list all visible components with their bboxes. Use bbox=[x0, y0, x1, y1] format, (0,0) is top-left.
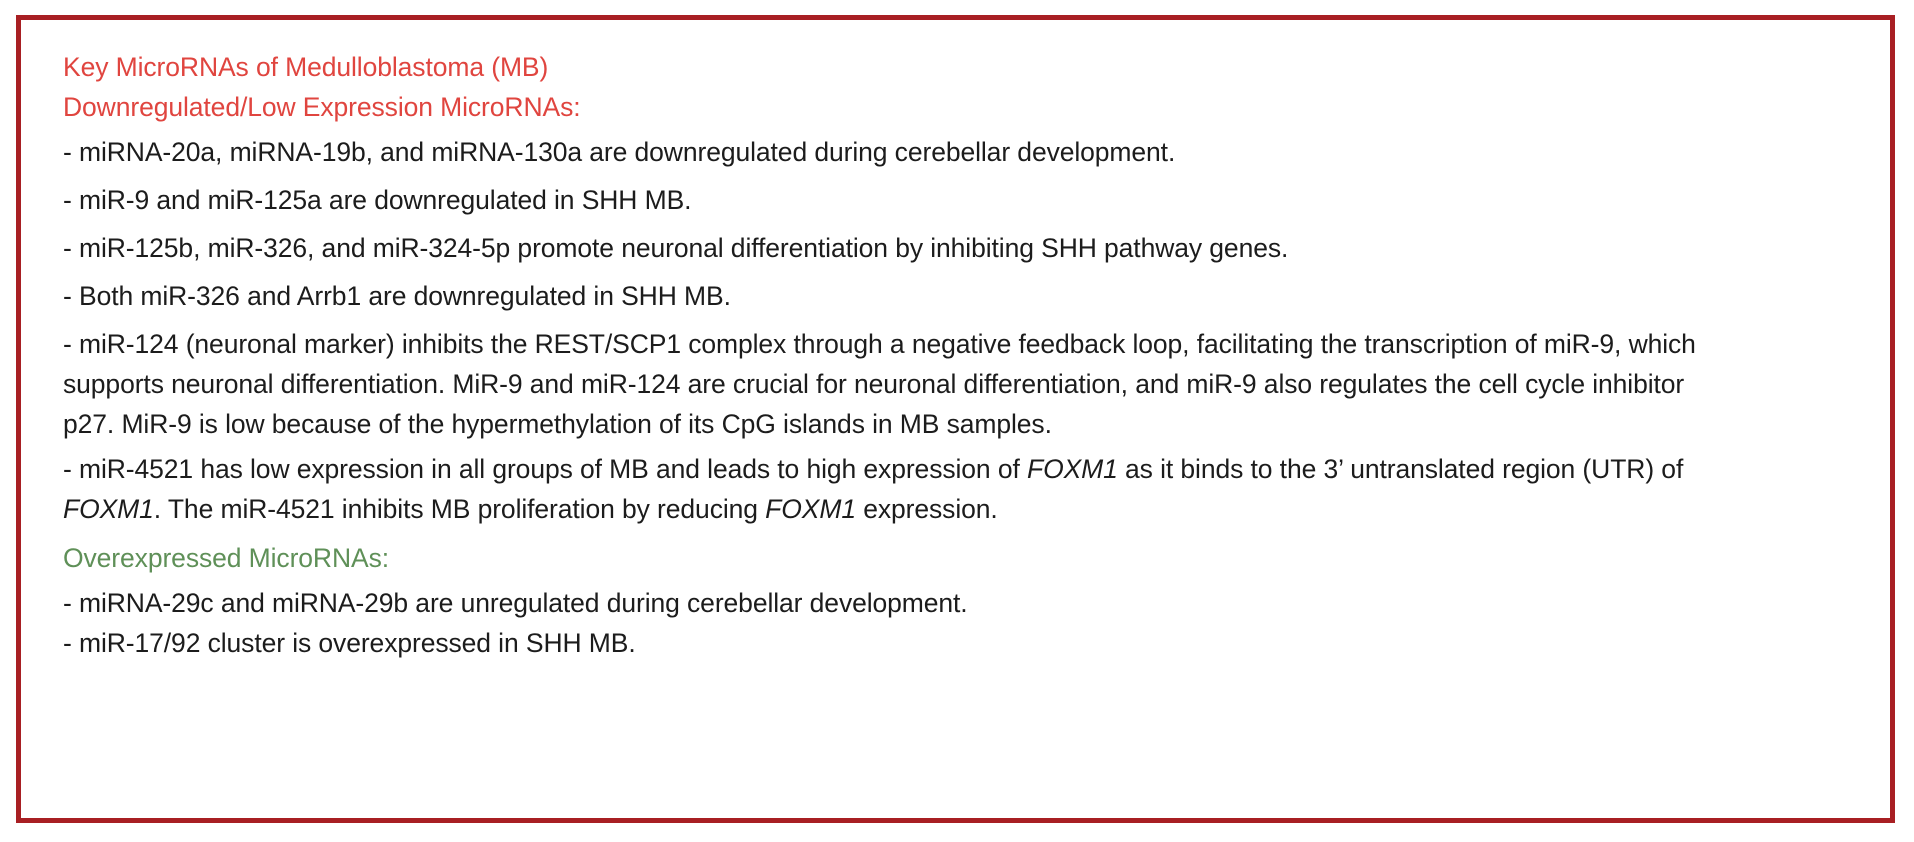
list-item: - miR-9 and miR-125a are downregulated i… bbox=[63, 180, 1860, 220]
gene-name-foxm1: FOXM1 bbox=[765, 494, 856, 524]
spacer bbox=[63, 172, 1860, 180]
section-heading-overexpressed: Overexpressed MicroRNAs: bbox=[63, 538, 1860, 578]
text-box-content: Key MicroRNAs of Medulloblastoma (MB) Do… bbox=[63, 47, 1860, 663]
section-heading-downregulated: Downregulated/Low Expression MicroRNAs: bbox=[63, 87, 1860, 127]
spacer bbox=[63, 268, 1860, 276]
list-item: - Both miR-326 and Arrb1 are downregulat… bbox=[63, 276, 1860, 316]
paragraph-mir4521: - miR-4521 has low expression in all gro… bbox=[63, 449, 1713, 529]
spacer bbox=[63, 529, 1860, 538]
spacer bbox=[63, 220, 1860, 228]
paragraph-mir4521-part4: expression. bbox=[856, 494, 998, 524]
page-title: Key MicroRNAs of Medulloblastoma (MB) bbox=[63, 47, 1860, 87]
text-box-frame: Key MicroRNAs of Medulloblastoma (MB) Do… bbox=[16, 15, 1895, 823]
list-item: - miR-125b, miR-326, and miR-324-5p prom… bbox=[63, 228, 1860, 268]
paragraph-mir4521-part1: - miR-4521 has low expression in all gro… bbox=[63, 454, 1027, 484]
gene-name-foxm1: FOXM1 bbox=[63, 494, 154, 524]
paragraph-mir4521-part2: as it binds to the 3’ untranslated regio… bbox=[1118, 454, 1683, 484]
paragraph-mir4521-part3: . The miR-4521 inhibits MB proliferation… bbox=[154, 494, 765, 524]
list-item: - miR-17/92 cluster is overexpressed in … bbox=[63, 623, 1860, 663]
spacer bbox=[63, 316, 1860, 324]
list-item: - miRNA-29c and miRNA-29b are unregulate… bbox=[63, 583, 1860, 623]
list-item: - miRNA-20a, miRNA-19b, and miRNA-130a a… bbox=[63, 132, 1860, 172]
paragraph-mir124: - miR-124 (neuronal marker) inhibits the… bbox=[63, 324, 1713, 444]
gene-name-foxm1: FOXM1 bbox=[1027, 454, 1118, 484]
